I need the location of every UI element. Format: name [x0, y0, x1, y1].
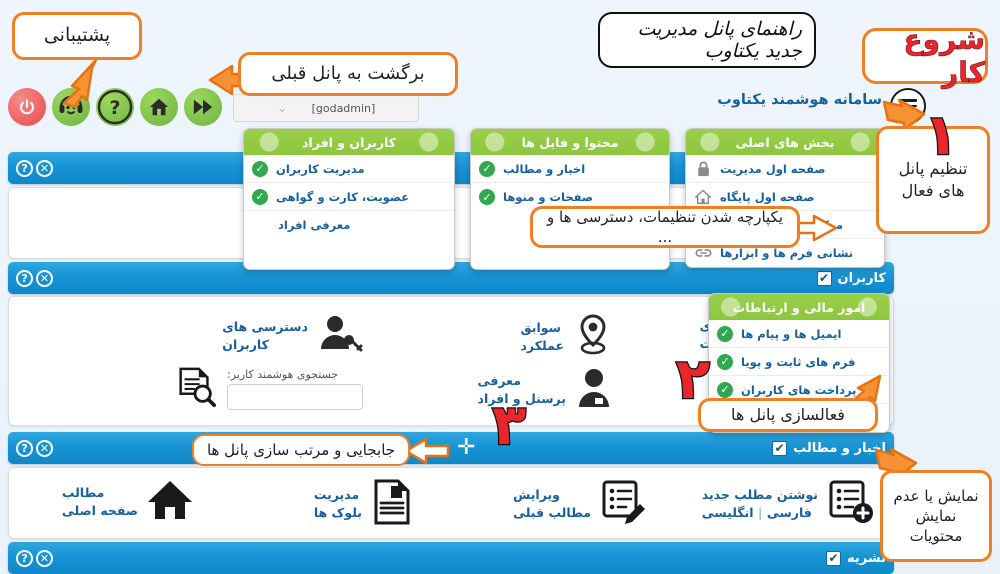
callout-activate-panels-text: فعالسازی پانل ها [731, 404, 845, 426]
check-circle-icon: ✓ [717, 382, 733, 398]
menu-item-payments-label: پرداخت های کاربران [741, 383, 856, 397]
menu-item-admin-home-label: صفحه اول مدیریت [720, 162, 825, 176]
chevron-down-icon: ⌄ [277, 101, 288, 116]
tile-home-page-content[interactable]: مطالب صفحه اصلی [62, 478, 193, 526]
link-icon [694, 246, 712, 260]
content-files-card: محتوا و فایل ها اخبار و مطالب ✓ صفحات و … [470, 128, 670, 270]
close-circle-icon[interactable]: ✕ [36, 270, 53, 287]
tile-edit-post-line1: ویرایش [513, 486, 591, 504]
site-title: سامانه هوشمند یکتاوب [717, 92, 882, 108]
callout-back-text: برگشت به پانل قبلی [271, 62, 424, 86]
question-circle-icon[interactable]: ? [16, 550, 33, 567]
check-circle-icon: ✓ [717, 326, 733, 342]
news-section-bar[interactable]: ✕ ? اخبار و مطالب ✔ [8, 432, 894, 464]
tile-access-line1: دسترسی های [222, 318, 308, 336]
menu-item-site-home-label: صفحه اول پایگاه [720, 190, 814, 204]
content-files-title: محتوا و فایل ها [471, 129, 669, 155]
callout-back-to-previous-panel: برگشت به پانل قبلی [238, 52, 458, 96]
menu-item-introduce-people[interactable]: معرفی افراد [244, 211, 454, 239]
main-sections-title: بخش های اصلی [686, 129, 884, 155]
menu-item-emails-messages[interactable]: ایمیل ها و پیام ها ✓ [709, 320, 889, 348]
marker-one: ۱ [924, 108, 958, 164]
home-icon [148, 96, 170, 118]
callout-unified-settings: یکپارچه شدن تنظیمات، دسترسی ها و ... [530, 206, 800, 248]
articles-search-bar-actions: ✕ ? [16, 160, 53, 177]
check-circle-icon: ✓ [479, 189, 495, 205]
journal-section-bar[interactable]: ✕ ? نشریه ✔ [8, 542, 894, 574]
tile-home-content-line2: صفحه اصلی [62, 502, 138, 520]
tile-home-content-line1: مطالب [62, 484, 138, 502]
callout-show-hide-contents: نمایش یا عدم نمایش محتویات [880, 470, 992, 562]
tile-blocks-label: مدیریت بلوک ها [314, 486, 362, 522]
news-panel: نوشتن مطلب جدید فارسی | انگلیسی [8, 467, 894, 539]
tile-access-line2: کاربران [222, 336, 308, 354]
tile-new-post-label: نوشتن مطلب جدید فارسی | انگلیسی [702, 486, 818, 522]
tile-edit-post-label: ویرایش مطالب قبلی [513, 486, 591, 522]
lang-fa[interactable]: فارسی [767, 505, 812, 520]
check-circle-icon: ✓ [717, 354, 733, 370]
start-work-badge[interactable]: شروع کار [862, 28, 988, 84]
lock-icon [694, 161, 712, 177]
check-circle-icon: ✓ [252, 161, 268, 177]
menu-item-emails-label: ایمیل ها و پیام ها [741, 327, 841, 341]
check-circle-icon: ✓ [479, 161, 495, 177]
guide-title-text: راهنمای پانل مدیریت جدید یکتاوب [612, 18, 802, 62]
tile-write-new-post[interactable]: نوشتن مطلب جدید فارسی | انگلیسی [702, 478, 875, 530]
marker-two: ۲ [676, 352, 710, 408]
tile-records-line2: عملکرد [521, 337, 564, 355]
finance-card-title: امور مالی و ارتباطات [709, 294, 889, 320]
callout-support: پشتیبانی [12, 12, 142, 60]
document-search-icon[interactable] [173, 365, 217, 413]
callout-unified-settings-text: یکپارچه شدن تنظیمات، دسترسی ها و ... [541, 207, 789, 248]
menu-item-manage-users[interactable]: مدیریت کاربران ✓ [244, 155, 454, 183]
menu-item-forms-tools-label: نشانی فرم ها و ابزارها [720, 246, 853, 260]
menu-item-news-articles-label: اخبار و مطالب [503, 162, 585, 176]
journal-bar-title-group: نشریه ✔ [826, 551, 886, 566]
tile-edit-previous-post[interactable]: ویرایش مطالب قبلی [513, 478, 648, 530]
tile-staff-line1: معرفی [478, 372, 566, 390]
menu-item-pages-menus-label: صفحات و منوها [503, 190, 593, 204]
tile-activity-records[interactable]: سوابق عملکرد [521, 313, 613, 361]
home-solid-icon [147, 478, 193, 526]
tile-home-content-label: مطالب صفحه اصلی [62, 484, 138, 520]
callout-show-hide-text: نمایش یا عدم نمایش محتویات [891, 486, 981, 547]
power-icon [18, 98, 36, 116]
close-circle-icon[interactable]: ✕ [36, 440, 53, 457]
menu-item-introduce-people-label: معرفی افراد [278, 218, 350, 232]
users-bar-actions: ✕ ? [16, 270, 53, 287]
callout-rearrange-text: جابجایی و مرتب سازی پانل ها [207, 440, 395, 460]
close-circle-icon[interactable]: ✕ [36, 160, 53, 177]
tile-records-label: سوابق عملکرد [521, 319, 564, 355]
user-search-label: جستجوی هوشمند کاربر: [227, 368, 338, 381]
users-section-title: کاربران [838, 271, 886, 286]
menu-item-forms-label: فرم های ثابت و پویا [741, 355, 855, 369]
start-work-label: شروع کار [865, 23, 985, 89]
tile-edit-post-line2: مطالب قبلی [513, 504, 591, 522]
user-search-field-row: جستجوی هوشمند کاربر: [173, 365, 363, 413]
home-button[interactable] [140, 88, 178, 126]
users-bar-title-group: کاربران ✔ [817, 271, 886, 286]
tile-user-access[interactable]: دسترسی های کاربران [222, 313, 363, 359]
location-pin-icon [573, 313, 613, 361]
question-circle-icon[interactable]: ? [16, 270, 33, 287]
tile-new-post-line1: نوشتن مطلب جدید [702, 486, 818, 504]
callout-activate-panels: فعالسازی پانل ها [698, 398, 878, 432]
callout-rearrange-panels: جابجایی و مرتب سازی پانل ها [192, 434, 410, 466]
tile-blocks-line1: مدیریت [314, 486, 362, 504]
tile-new-post-langs: فارسی | انگلیسی [702, 504, 818, 522]
edit-post-icon [600, 478, 648, 530]
callout-support-text: پشتیبانی [44, 23, 110, 49]
news-bar-actions: ✕ ? [16, 440, 53, 457]
new-post-icon [827, 478, 875, 530]
blocks-icon [371, 478, 413, 530]
tile-manage-blocks[interactable]: مدیریت بلوک ها [314, 478, 413, 530]
top-toolbar: ? [8, 88, 222, 126]
menu-item-membership-card-label: عضویت، کارت و گواهی [276, 190, 409, 204]
tile-records-line1: سوابق [521, 319, 564, 337]
tile-blocks-line2: بلوک ها [314, 504, 362, 522]
home-icon [694, 189, 712, 205]
users-section-checkbox[interactable]: ✔ [817, 271, 832, 286]
user-key-icon [317, 313, 363, 359]
check-circle-icon: ✓ [252, 189, 268, 205]
account-name: [godadmin] [312, 102, 376, 115]
person-icon [575, 367, 613, 413]
admin-panel-screenshot: راهنمای پانل مدیریت جدید یکتاوب شروع کار… [0, 0, 1000, 574]
lang-separator: | [758, 505, 763, 520]
arrow-to-support-icon [52, 56, 112, 108]
fast-forward-icon [192, 97, 214, 117]
tile-access-label: دسترسی های کاربران [222, 318, 308, 354]
users-people-title: کاربران و افراد [244, 129, 454, 155]
marker-three: ۳ [492, 398, 526, 454]
move-cursor-icon: ✛ [457, 437, 475, 459]
user-search-input[interactable] [227, 384, 363, 410]
lang-en[interactable]: انگلیسی [702, 505, 754, 520]
users-people-card: کاربران و افراد مدیریت کاربران ✓ عضویت، … [243, 128, 455, 270]
menu-item-admin-home[interactable]: صفحه اول مدیریت [686, 155, 884, 183]
journal-section-checkbox[interactable]: ✔ [826, 551, 841, 566]
menu-item-membership-card[interactable]: عضویت، کارت و گواهی ✓ [244, 183, 454, 211]
arrow-to-drag-handle [404, 436, 450, 466]
news-bar-title-group: اخبار و مطالب ✔ [772, 441, 886, 456]
question-circle-icon[interactable]: ? [16, 440, 33, 457]
close-circle-icon[interactable]: ✕ [36, 550, 53, 567]
journal-bar-actions: ✕ ? [16, 550, 53, 567]
question-circle-icon[interactable]: ? [16, 160, 33, 177]
guide-title-box: راهنمای پانل مدیریت جدید یکتاوب [598, 12, 816, 68]
news-section-checkbox[interactable]: ✔ [772, 441, 787, 456]
account-selector[interactable]: ⌄ [godadmin] [233, 94, 419, 122]
power-off-button[interactable] [8, 88, 46, 126]
menu-item-news-articles[interactable]: اخبار و مطالب ✓ [471, 155, 669, 183]
menu-item-manage-users-label: مدیریت کاربران [276, 162, 365, 176]
